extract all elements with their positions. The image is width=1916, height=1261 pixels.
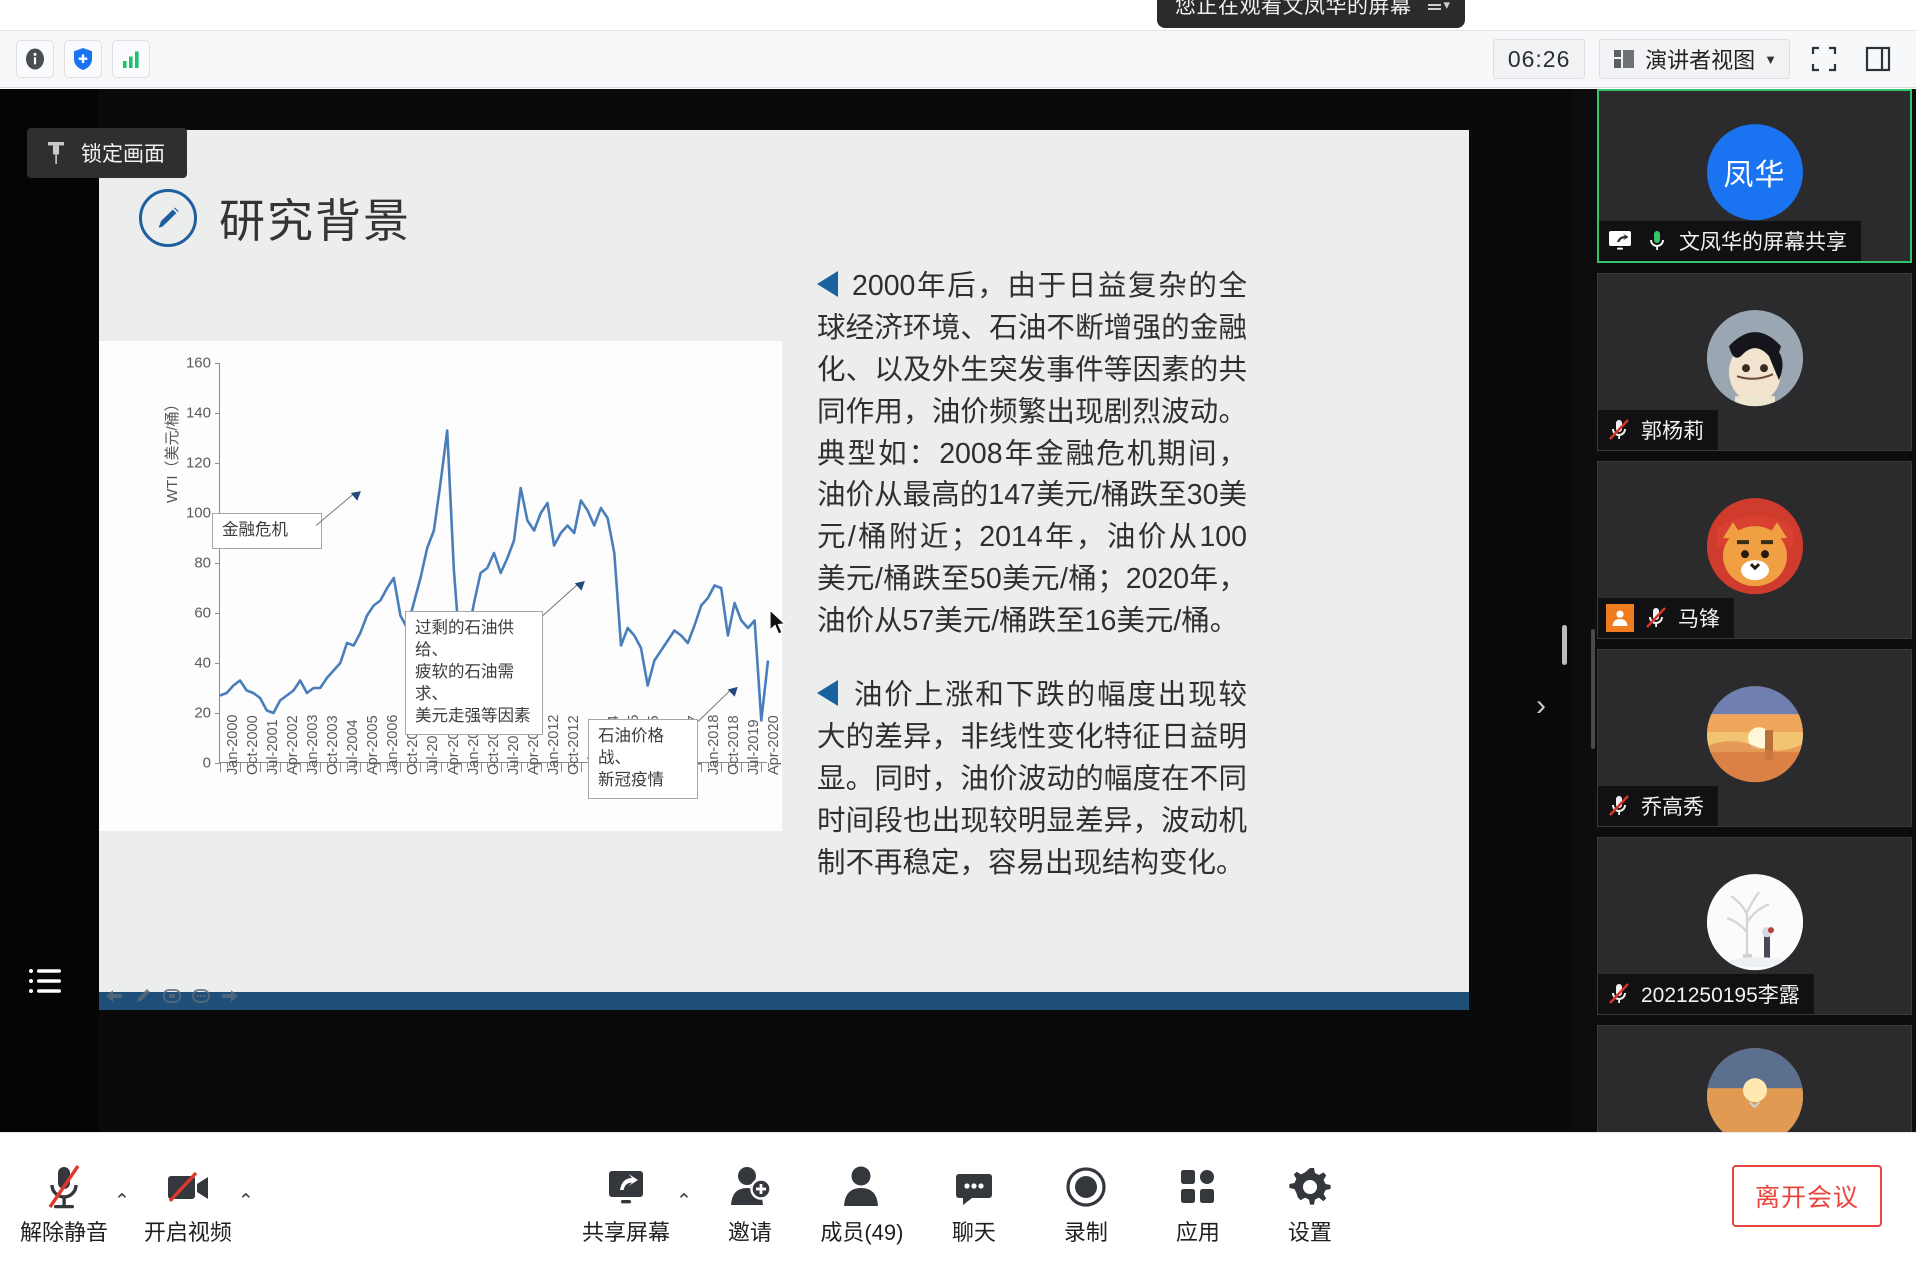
host-badge: [1606, 604, 1634, 632]
avatar: [1707, 498, 1803, 594]
presentation-slide: 研究背景 WTI（美元/桶） 020406080100120140160Jan-…: [99, 130, 1469, 1010]
toolbar-button-camera-off[interactable]: 开启视频: [132, 1159, 244, 1247]
participant-name-chip: 乔高秀: [1598, 786, 1718, 826]
toolbar-center-group: 共享屏幕⌃邀请成员(49)聊天录制应用设置: [570, 1159, 1366, 1247]
slide-text-column: 2000年后，由于日益复杂的全球经济环境、石油不断增强的金融化、以及外生突发事件…: [817, 266, 1247, 916]
slide-paragraph-2: 油价上涨和下跌的幅度出现较大的差异，非线性变化特征日益明显。同时，油价波动的幅度…: [817, 675, 1247, 884]
toolbar-button-gear[interactable]: 设置: [1254, 1159, 1366, 1247]
rail-scrollbar[interactable]: [1591, 629, 1595, 749]
screen-share-icon: [1607, 229, 1635, 253]
slide-box-icon[interactable]: [161, 985, 183, 1007]
pin-icon: [45, 140, 67, 166]
chart-annotation: 金融危机: [212, 513, 322, 549]
participant-name: 马锋: [1678, 603, 1720, 633]
pen-icon[interactable]: [132, 985, 154, 1007]
chat-dots-icon: [949, 1159, 999, 1211]
chart-xtick-label: Apr-2020: [766, 715, 782, 775]
mic-muted-icon: [1643, 605, 1669, 631]
network-bars-icon: [118, 46, 144, 72]
next-arrow-icon[interactable]: [219, 985, 241, 1007]
mic-muted-icon: [1606, 417, 1632, 443]
toolbar-button-record-circle[interactable]: 录制: [1030, 1159, 1142, 1247]
chart-annotation: 石油价格战、 新冠疫情: [588, 719, 698, 799]
lock-screen-label: 锁定画面: [81, 138, 165, 168]
toolbar-button-label: 解除静音: [20, 1215, 108, 1247]
record-circle-icon: [1062, 1159, 1110, 1211]
meeting-window: 您正在观看文凤华的屏幕 ▾: [0, 0, 1916, 1261]
toolbar-button-invite-person[interactable]: 邀请: [694, 1159, 806, 1247]
participant-tile[interactable]: 2021250195李露: [1597, 837, 1912, 1015]
toolbar-button-label: 设置: [1288, 1215, 1332, 1247]
mic-on-icon: [1644, 228, 1670, 254]
meeting-timer: 06:26: [1493, 39, 1585, 79]
mouse-cursor: [768, 609, 788, 642]
shared-screen-stage[interactable]: 研究背景 WTI（美元/桶） 020406080100120140160Jan-…: [0, 89, 1573, 1132]
collapse-rail-chevron-icon[interactable]: ›: [1536, 689, 1546, 723]
toolbar-button-label: 开启视频: [144, 1215, 232, 1247]
participant-list-toggle[interactable]: [18, 953, 74, 1009]
slide-footer-band: [99, 992, 1469, 1010]
toolbar-button-label: 应用: [1176, 1215, 1220, 1247]
fullscreen-icon: [1809, 44, 1839, 74]
split-layout-icon: [1863, 44, 1893, 74]
participant-tile[interactable]: 乔高秀: [1597, 649, 1912, 827]
avatar: [1707, 874, 1803, 970]
members-icon: [839, 1159, 885, 1211]
triangle-bullet-icon: [817, 680, 838, 706]
mic-muted-icon: [42, 1159, 86, 1211]
header-left-buttons: [0, 40, 150, 78]
chart-axes: 020406080100120140160Jan-2000Oct-2000Jul…: [219, 363, 767, 763]
wti-price-chart: WTI（美元/桶） 020406080100120140160Jan-2000O…: [99, 341, 782, 831]
participant-name: 乔高秀: [1641, 791, 1704, 821]
participant-name-chip: 马锋: [1598, 598, 1734, 638]
watching-screen-text: 您正在观看文凤华的屏幕: [1175, 0, 1412, 20]
mic-muted-icon: [1606, 981, 1632, 1007]
avatar: [1707, 310, 1803, 406]
toolbar-button-label: 共享屏幕: [582, 1215, 670, 1247]
participant-name-chip: 郭杨莉: [1598, 410, 1718, 450]
fullscreen-button[interactable]: [1804, 39, 1844, 79]
list-view-icon: [26, 964, 66, 998]
gear-icon: [1286, 1159, 1334, 1211]
view-mode-label: 演讲者视图: [1645, 43, 1755, 75]
participant-rail[interactable]: 凤华文凤华的屏幕共享郭杨莉马锋乔高秀2021250195李露⌄: [1573, 89, 1916, 1132]
network-quality-button[interactable]: [112, 40, 150, 78]
chevron-down-icon: ▼: [1764, 52, 1777, 67]
toolbar-button-members[interactable]: 成员(49): [806, 1159, 918, 1247]
more-dots-icon[interactable]: [190, 985, 212, 1007]
toolbar-button-screen-share[interactable]: 共享屏幕: [570, 1159, 682, 1247]
slide-paragraph-1: 2000年后，由于日益复杂的全球经济环境、石油不断增强的金融化、以及外生突发事件…: [817, 266, 1247, 643]
person-icon: [1610, 608, 1630, 628]
speaker-view-icon: [1612, 47, 1636, 71]
prev-arrow-icon[interactable]: [103, 985, 125, 1007]
participant-name-chip: 文凤华的屏幕共享: [1599, 221, 1861, 261]
camera-off-icon: [163, 1159, 213, 1211]
chevron-up-icon[interactable]: ⌃: [238, 1190, 254, 1247]
chart-annotation: 过剩的石油供给、 疲软的石油需求、 美元走强等因素: [405, 611, 543, 735]
participant-tile[interactable]: 郭杨莉: [1597, 273, 1912, 451]
slide-title-row: 研究背景: [139, 185, 411, 251]
participant-tile[interactable]: ⌄: [1597, 1025, 1912, 1132]
shield-plus-icon: [70, 46, 96, 72]
watching-screen-banner[interactable]: 您正在观看文凤华的屏幕 ▾: [1157, 0, 1465, 28]
toolbar-left-group: 解除静音⌃开启视频⌃: [8, 1159, 256, 1247]
mic-muted-icon: [1606, 793, 1632, 819]
toolbar-button-chat-dots[interactable]: 聊天: [918, 1159, 1030, 1247]
participant-name: 文凤华的屏幕共享: [1679, 226, 1847, 256]
participant-tile[interactable]: 马锋: [1597, 461, 1912, 639]
participant-name: 郭杨莉: [1641, 415, 1704, 445]
toolbar-button-mic-muted[interactable]: 解除静音: [8, 1159, 120, 1247]
screen-share-icon: [601, 1159, 651, 1211]
chevron-up-icon[interactable]: ⌃: [676, 1190, 692, 1247]
apps-grid-icon: [1174, 1159, 1222, 1211]
page-title: 研究背景: [219, 185, 411, 251]
info-icon: [22, 46, 48, 72]
avatar: 凤华: [1707, 124, 1803, 220]
participant-tile[interactable]: 凤华文凤华的屏幕共享: [1597, 89, 1912, 263]
leave-meeting-button[interactable]: 离开会议: [1732, 1165, 1882, 1227]
info-button[interactable]: [16, 40, 54, 78]
chevron-down-icon[interactable]: ⌄: [1744, 1084, 1766, 1115]
avatar: [1707, 686, 1803, 782]
banner-menu-icon[interactable]: ▾: [1428, 0, 1451, 13]
chevron-up-icon[interactable]: ⌃: [114, 1190, 130, 1247]
view-mode-selector[interactable]: 演讲者视图 ▼: [1599, 39, 1790, 79]
triangle-bullet-icon: [817, 271, 838, 297]
participant-name: 2021250195李露: [1641, 979, 1800, 1009]
header-right-controls: 06:26 演讲者视图 ▼: [1493, 39, 1916, 79]
pencil-circle-icon: [139, 189, 197, 247]
toolbar-button-label: 成员(49): [820, 1215, 903, 1247]
rail-resize-handle[interactable]: [1562, 625, 1567, 665]
toolbar-button-apps-grid[interactable]: 应用: [1142, 1159, 1254, 1247]
chart-xtickmark: [220, 763, 221, 772]
layout-toggle-button[interactable]: [1858, 39, 1898, 79]
toolbar-button-label: 录制: [1064, 1215, 1108, 1247]
participant-name-chip: 2021250195李露: [1598, 974, 1814, 1014]
lock-screen-tooltip[interactable]: 锁定画面: [27, 128, 187, 178]
slide-navigation-toolbar[interactable]: [99, 982, 241, 1010]
toolbar-button-label: 邀请: [728, 1215, 772, 1247]
meeting-header-bar: 06:26 演讲者视图 ▼: [0, 30, 1916, 88]
meeting-toolbar: 解除静音⌃开启视频⌃ 共享屏幕⌃邀请成员(49)聊天录制应用设置 离开会议: [0, 1132, 1916, 1261]
toolbar-button-label: 聊天: [952, 1215, 996, 1247]
chart-plot-area: WTI（美元/桶） 020406080100120140160Jan-2000O…: [157, 353, 777, 765]
chart-ylabel: WTI（美元/桶）: [161, 396, 182, 503]
invite-person-icon: [727, 1159, 773, 1211]
security-button[interactable]: [64, 40, 102, 78]
